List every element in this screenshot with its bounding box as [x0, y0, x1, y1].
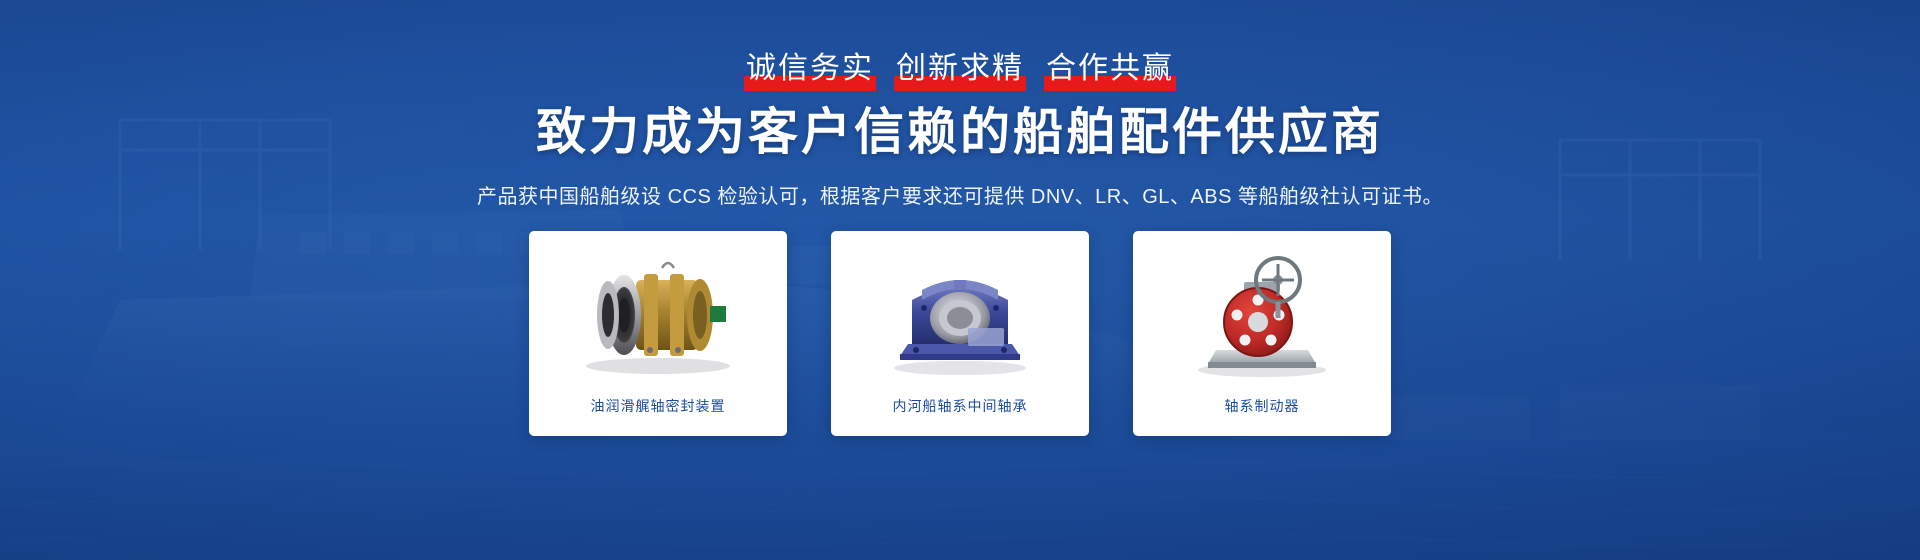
tagline-segment-1: 诚信务实	[744, 43, 876, 87]
banner-headline: 致力成为客户信赖的船舶配件供应商	[536, 92, 1384, 164]
hero-banner: 诚信务实 创新求精 合作共赢 致力成为客户信赖的船舶配件供应商 产品获中国船舶级…	[0, 0, 1920, 560]
banner-tagline: 诚信务实 创新求精 合作共赢	[744, 44, 1176, 86]
product-card[interactable]: 轴系制动器	[1133, 231, 1391, 436]
tagline-segment-3: 合作共赢	[1044, 43, 1176, 87]
shaft-brake-icon	[1162, 244, 1362, 384]
tagline-segment-3-text: 合作共赢	[1046, 52, 1174, 85]
intermediate-bearing-icon	[860, 244, 1060, 384]
product-caption: 内河船轴系中间轴承	[893, 396, 1028, 416]
product-card-list: 油润滑艉轴密封装置	[529, 231, 1391, 436]
product-image-bearing	[853, 241, 1068, 386]
tagline-segment-2: 创新求精	[894, 43, 1026, 87]
tagline-segment-2-text: 创新求精	[896, 52, 1024, 85]
product-card[interactable]: 内河船轴系中间轴承	[831, 231, 1089, 436]
product-image-brake	[1155, 241, 1370, 386]
stern-shaft-seal-icon	[558, 244, 758, 384]
product-image-seal	[551, 241, 766, 386]
product-card[interactable]: 油润滑艉轴密封装置	[529, 231, 787, 436]
banner-subtitle: 产品获中国船舶级设 CCS 检验认可，根据客户要求还可提供 DNV、LR、GL、…	[477, 180, 1443, 209]
product-caption: 油润滑艉轴密封装置	[591, 396, 726, 416]
tagline-segment-1-text: 诚信务实	[746, 52, 874, 85]
product-caption: 轴系制动器	[1225, 396, 1300, 416]
